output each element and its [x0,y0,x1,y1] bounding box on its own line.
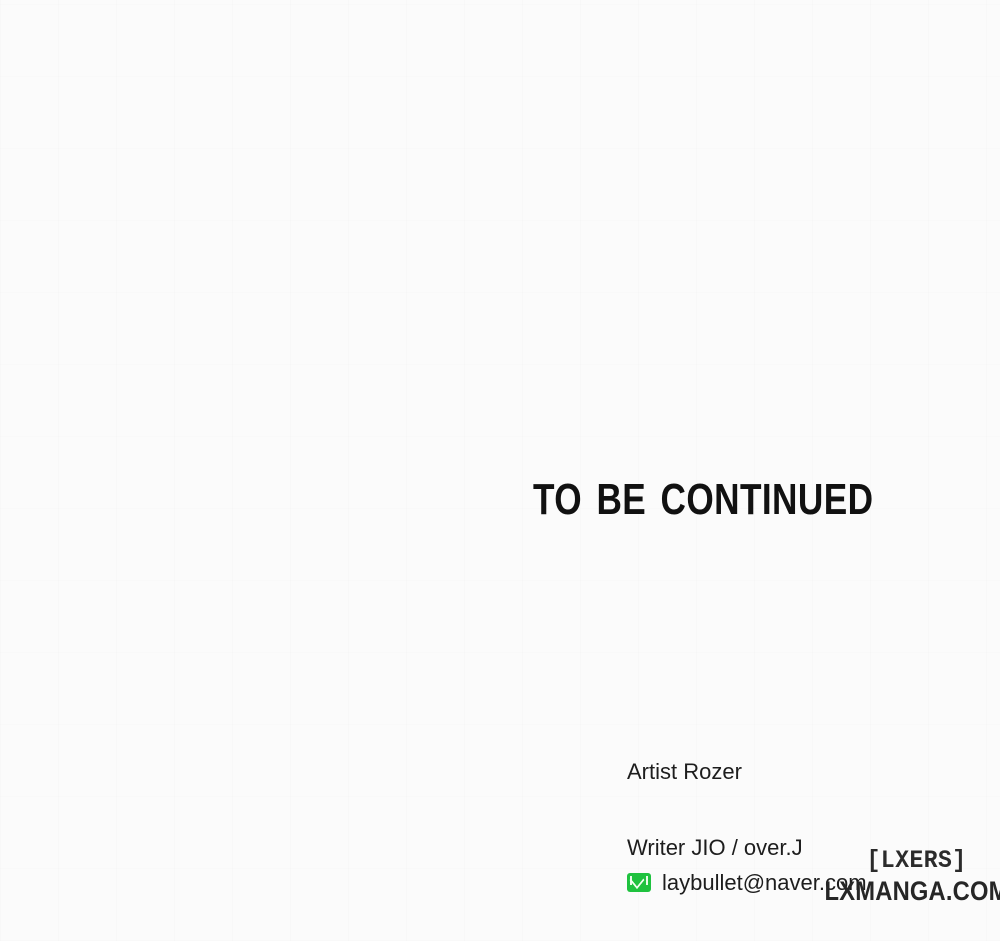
comic-end-page: To be continued Artist Rozer Writer JIO … [0,0,1000,941]
mail-icon [627,873,651,892]
credit-writer: Writer JIO / over.J [627,834,867,862]
credit-artist: Artist Rozer [627,758,867,786]
credits-block: Artist Rozer Writer JIO / over.J laybull… [627,758,867,897]
credit-email: laybullet@naver.com [627,869,867,897]
to-be-continued-headline: To be continued [533,462,885,525]
email-address[interactable]: laybullet@naver.com [662,869,867,897]
